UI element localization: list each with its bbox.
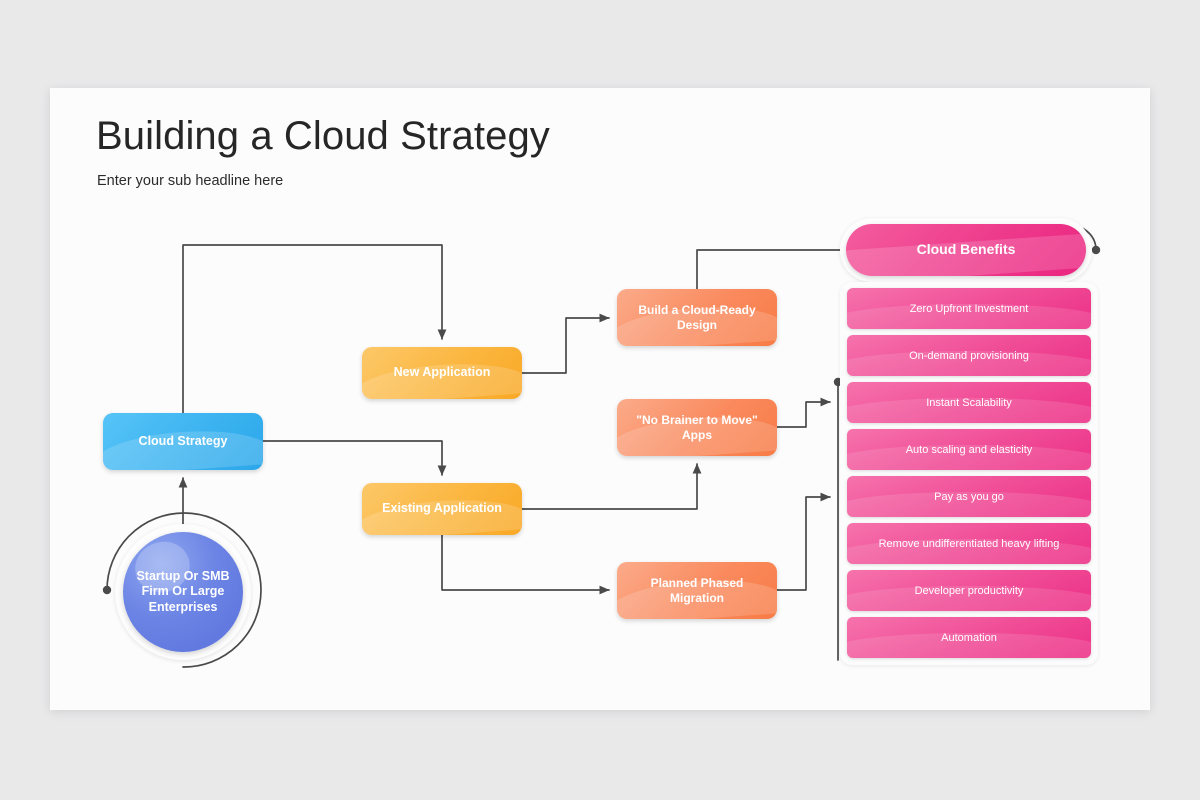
benefit-item-label: Automation bbox=[933, 632, 1005, 644]
benefit-item-label: Pay as you go bbox=[926, 491, 1012, 503]
node-build-cloud-ready-design[interactable]: Build a Cloud-Ready Design bbox=[617, 289, 777, 346]
benefit-item[interactable]: Pay as you go bbox=[847, 476, 1091, 517]
benefit-item-label: Developer productivity bbox=[907, 585, 1032, 597]
node-no-brainer-apps[interactable]: "No Brainer to Move" Apps bbox=[617, 399, 777, 456]
node-enterprises-label: Startup Or SMB Firm Or Large Enterprises bbox=[123, 569, 243, 616]
benefit-item[interactable]: Instant Scalability bbox=[847, 382, 1091, 423]
node-cloud-benefits-label: Cloud Benefits bbox=[907, 241, 1026, 259]
benefit-item-label: Remove undifferentiated heavy lifting bbox=[871, 538, 1068, 550]
node-cloud-benefits[interactable]: Cloud Benefits bbox=[846, 224, 1086, 276]
node-planned-phased-migration-label: Planned Phased Migration bbox=[617, 576, 777, 606]
benefit-item-label: Instant Scalability bbox=[918, 397, 1020, 409]
benefit-item[interactable]: Auto scaling and elasticity bbox=[847, 429, 1091, 470]
node-existing-application[interactable]: Existing Application bbox=[362, 483, 522, 535]
benefit-item-label: Auto scaling and elasticity bbox=[898, 444, 1041, 456]
page-subtitle: Enter your sub headline here bbox=[97, 173, 283, 189]
node-cloud-strategy[interactable]: Cloud Strategy bbox=[103, 413, 263, 470]
benefit-item[interactable]: Developer productivity bbox=[847, 570, 1091, 611]
benefit-item[interactable]: Remove undifferentiated heavy lifting bbox=[847, 523, 1091, 564]
node-cloud-strategy-label: Cloud Strategy bbox=[129, 434, 238, 450]
benefit-item-label: On-demand provisioning bbox=[901, 350, 1037, 362]
benefit-item[interactable]: On-demand provisioning bbox=[847, 335, 1091, 376]
benefit-item-label: Zero Upfront Investment bbox=[902, 303, 1037, 315]
node-existing-application-label: Existing Application bbox=[372, 501, 512, 517]
benefit-item[interactable]: Automation bbox=[847, 617, 1091, 658]
benefits-list: Zero Upfront InvestmentOn-demand provisi… bbox=[847, 288, 1091, 664]
benefit-item[interactable]: Zero Upfront Investment bbox=[847, 288, 1091, 329]
page-title: Building a Cloud Strategy bbox=[96, 114, 550, 159]
node-build-cloud-ready-design-label: Build a Cloud-Ready Design bbox=[617, 303, 777, 333]
node-planned-phased-migration[interactable]: Planned Phased Migration bbox=[617, 562, 777, 619]
slide-canvas: Building a Cloud Strategy Enter your sub… bbox=[0, 0, 1200, 800]
node-enterprises[interactable]: Startup Or SMB Firm Or Large Enterprises bbox=[123, 532, 243, 652]
node-new-application[interactable]: New Application bbox=[362, 347, 522, 399]
node-new-application-label: New Application bbox=[384, 365, 501, 381]
node-no-brainer-apps-label: "No Brainer to Move" Apps bbox=[617, 413, 777, 443]
